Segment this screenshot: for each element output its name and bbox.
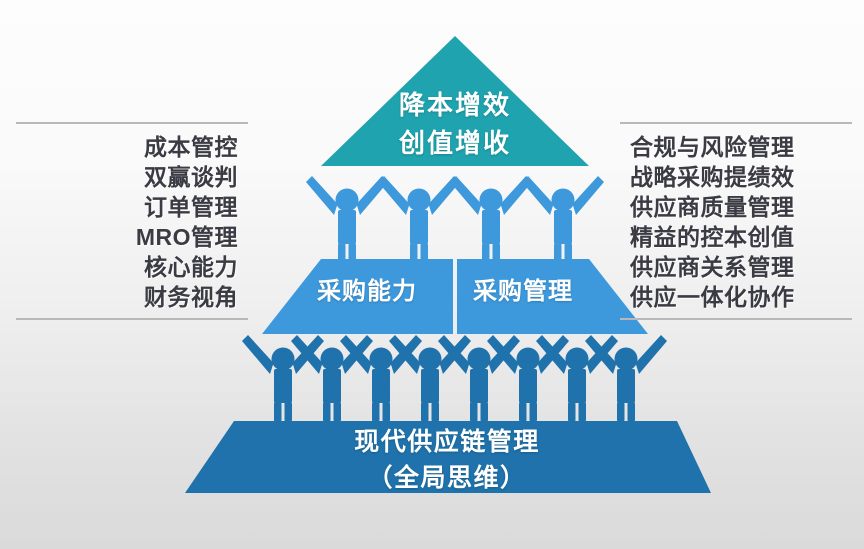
list-item: 核心能力 [144,252,238,282]
list-item: 供应一体化协作 [630,282,795,312]
pyramid-base-trapezoid [185,421,711,493]
figure-row-lower [242,335,667,423]
list-item: 财务视角 [144,282,238,312]
diagram-canvas: 降本增效 创值增收 采购能力 采购管理 现代供应链管理 （全局思维） 成本管控 … [0,0,864,549]
right-column-items: 合规与风险管理 战略采购提绩效 供应商质量管理 精益的控本创值 供应商关系管理 … [620,124,795,318]
left-column-bottom-rule [16,318,248,320]
list-item: 合规与风险管理 [630,132,795,162]
list-item: 精益的控本创值 [630,222,795,252]
list-item: 成本管控 [144,132,238,162]
pyramid-apex-triangle [321,36,589,166]
list-item: 双赢谈判 [144,162,238,192]
left-column-items: 成本管控 双赢谈判 订单管理 MRO管理 核心能力 财务视角 [136,124,248,318]
figure-row-upper [306,176,604,264]
list-item: 供应商质量管理 [630,192,795,222]
list-item: 订单管理 [144,192,238,222]
list-item: 供应商关系管理 [630,252,795,282]
list-item: MRO管理 [136,222,238,252]
right-text-column: 合规与风险管理 战略采购提绩效 供应商质量管理 精益的控本创值 供应商关系管理 … [620,122,852,320]
list-item: 战略采购提绩效 [630,162,795,192]
pyramid-middle-left-panel [262,259,453,334]
right-column-bottom-rule [620,318,852,320]
left-text-column: 成本管控 双赢谈判 订单管理 MRO管理 核心能力 财务视角 [16,122,248,320]
